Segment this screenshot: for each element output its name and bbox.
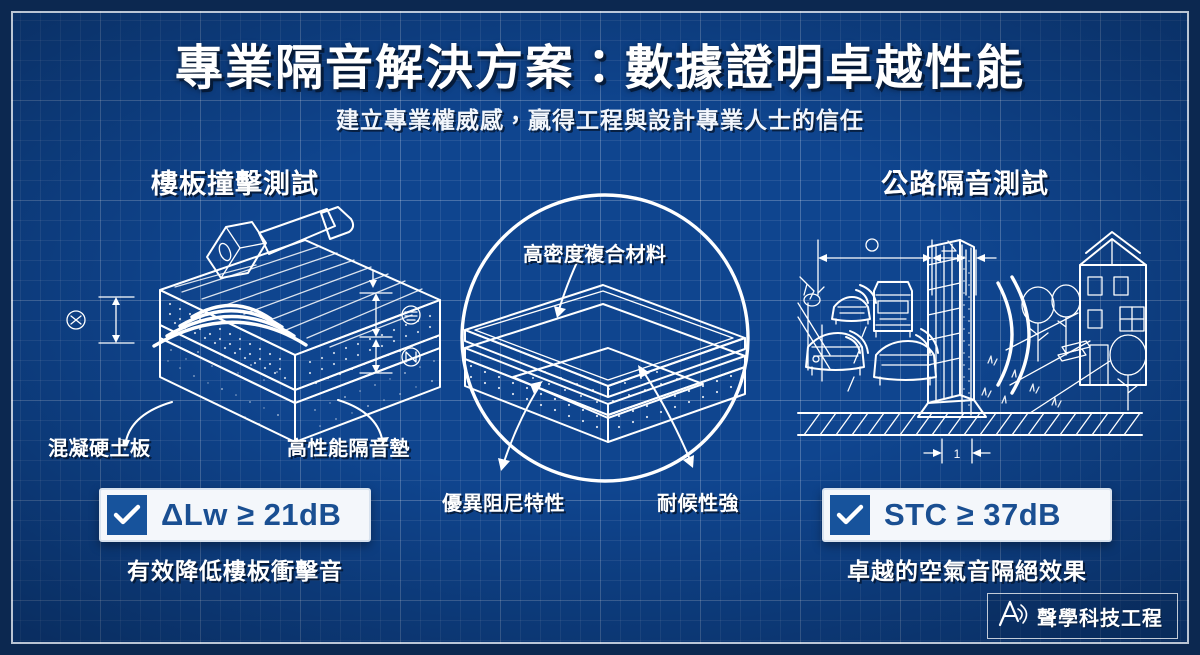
floor-impact-diagram [20, 205, 450, 455]
vehicle-car-1 [832, 297, 870, 324]
impact-sound-waves [154, 305, 306, 346]
brand-logo-text: 聲學科技工程 [1037, 602, 1163, 631]
material-layers-isometric [465, 285, 745, 442]
composite-material-diagram [445, 190, 765, 490]
label-acoustic-mat: 高性能隔音墊 [287, 432, 410, 461]
section-heading-floor-impact: 樓板撞擊測試 [0, 162, 470, 201]
dimension-top [818, 239, 996, 295]
badge-stc: STC ≥ 37dB [822, 488, 1112, 542]
badge-value-delta-lw: ΔLw ≥ 21dB [161, 497, 341, 533]
vehicle-car-2 [806, 333, 864, 375]
dimension-bottom: 1 [924, 439, 990, 463]
house-building [1080, 232, 1146, 385]
acoustic-a-logo-icon [998, 600, 1028, 632]
vehicle-car-3 [874, 341, 936, 385]
mat-layer-texture [169, 303, 286, 379]
page-title: 專業隔音解決方案：數據證明卓越性能 [0, 28, 1200, 98]
wood-grain-lines [175, 246, 422, 347]
highway-noise-barrier-diagram: 1 [790, 195, 1190, 475]
infographic-canvas: 專業隔音解決方案：數據證明卓越性能 建立專業權威感，贏得工程與設計專業人士的信任… [0, 0, 1200, 655]
badge-caption-floor: 有效降低樓板衝擊音 [45, 552, 425, 586]
label-damping-property: 優異阻尼特性 [442, 487, 565, 516]
label-high-density-composite: 高密度複合材料 [523, 238, 667, 267]
label-concrete-slab: 混凝硬土板 [48, 432, 151, 461]
check-icon [830, 495, 870, 535]
badge-caption-airborne: 卓越的空氣音隔絕效果 [772, 552, 1162, 586]
vehicle-truck [874, 282, 912, 337]
check-icon [107, 495, 147, 535]
barrier-thickness-value: 1 [954, 447, 961, 461]
badge-value-stc: STC ≥ 37dB [884, 497, 1061, 533]
brand-logo: 聲學科技工程 [987, 593, 1178, 639]
tree-icons [1022, 285, 1146, 410]
label-weather-resistance: 耐候性強 [657, 487, 739, 516]
street-light-icon [800, 277, 824, 306]
dimension-right [360, 270, 420, 373]
badge-delta-lw: ΔLw ≥ 21dB [99, 488, 371, 542]
page-subtitle: 建立專業權威感，贏得工程與設計專業人士的信任 [0, 101, 1200, 135]
dimension-left [67, 297, 134, 343]
